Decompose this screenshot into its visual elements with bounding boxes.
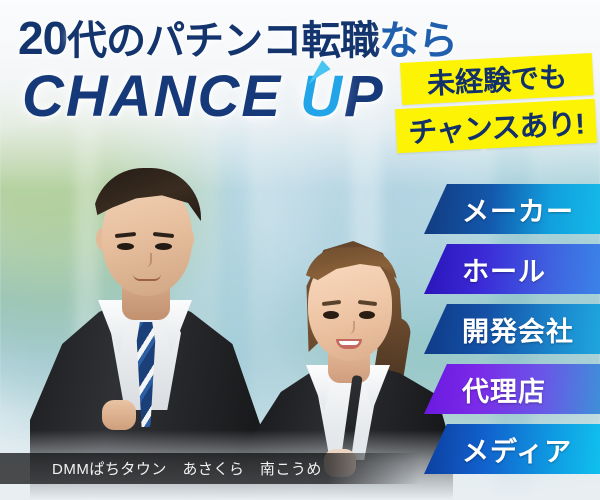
headline-number: 20 [18, 12, 67, 64]
category-label: ホール [462, 250, 546, 289]
category-banner-developer[interactable]: 開発会社 [424, 304, 600, 354]
man-eye-right [155, 243, 172, 250]
category-banner-agency[interactable]: 代理店 [424, 364, 600, 414]
headline-line-1: 20代のパチンコ転職なら [18, 16, 457, 63]
man-eye-left [117, 243, 134, 250]
credit-text: DMMぱちタウン あさくら 南こうめ [52, 458, 322, 479]
man-nose [142, 253, 152, 267]
badge-line-2-text: チャンスあり! [407, 100, 585, 151]
category-label: 代理店 [462, 370, 546, 409]
logo-word-chance: CHANCE [22, 64, 282, 129]
category-banner-maker[interactable]: メーカー [424, 184, 600, 234]
category-label: メーカー [462, 190, 574, 229]
man-mouth [133, 274, 161, 281]
credit-bar: DMMぱちタウン あさくら 南こうめ [0, 453, 420, 484]
badge-line-1-text: 未経験でも [426, 55, 568, 102]
headline-line-1-text: 代のパチンコ転職 [67, 19, 379, 63]
man-hand [102, 400, 136, 430]
headline-line-1-suffix: なら [379, 19, 457, 63]
category-label: 開発会社 [462, 310, 574, 349]
headline-block: 20代のパチンコ転職なら [18, 16, 457, 63]
logo-letter-u: U [300, 66, 344, 128]
category-banner-hall[interactable]: ホール [424, 244, 600, 294]
logo-letter-p: P [344, 64, 385, 129]
logo-chance-up: CHANCEUP [22, 66, 385, 128]
category-banner-media[interactable]: メディア [424, 424, 600, 474]
category-label: メディア [462, 430, 572, 469]
woman-eye-right [359, 311, 375, 319]
advertisement-banner[interactable]: 20代のパチンコ転職なら CHANCEUP 未経験でも チャンスあり! メーカー… [0, 0, 600, 500]
woman-eye-left [323, 311, 339, 319]
